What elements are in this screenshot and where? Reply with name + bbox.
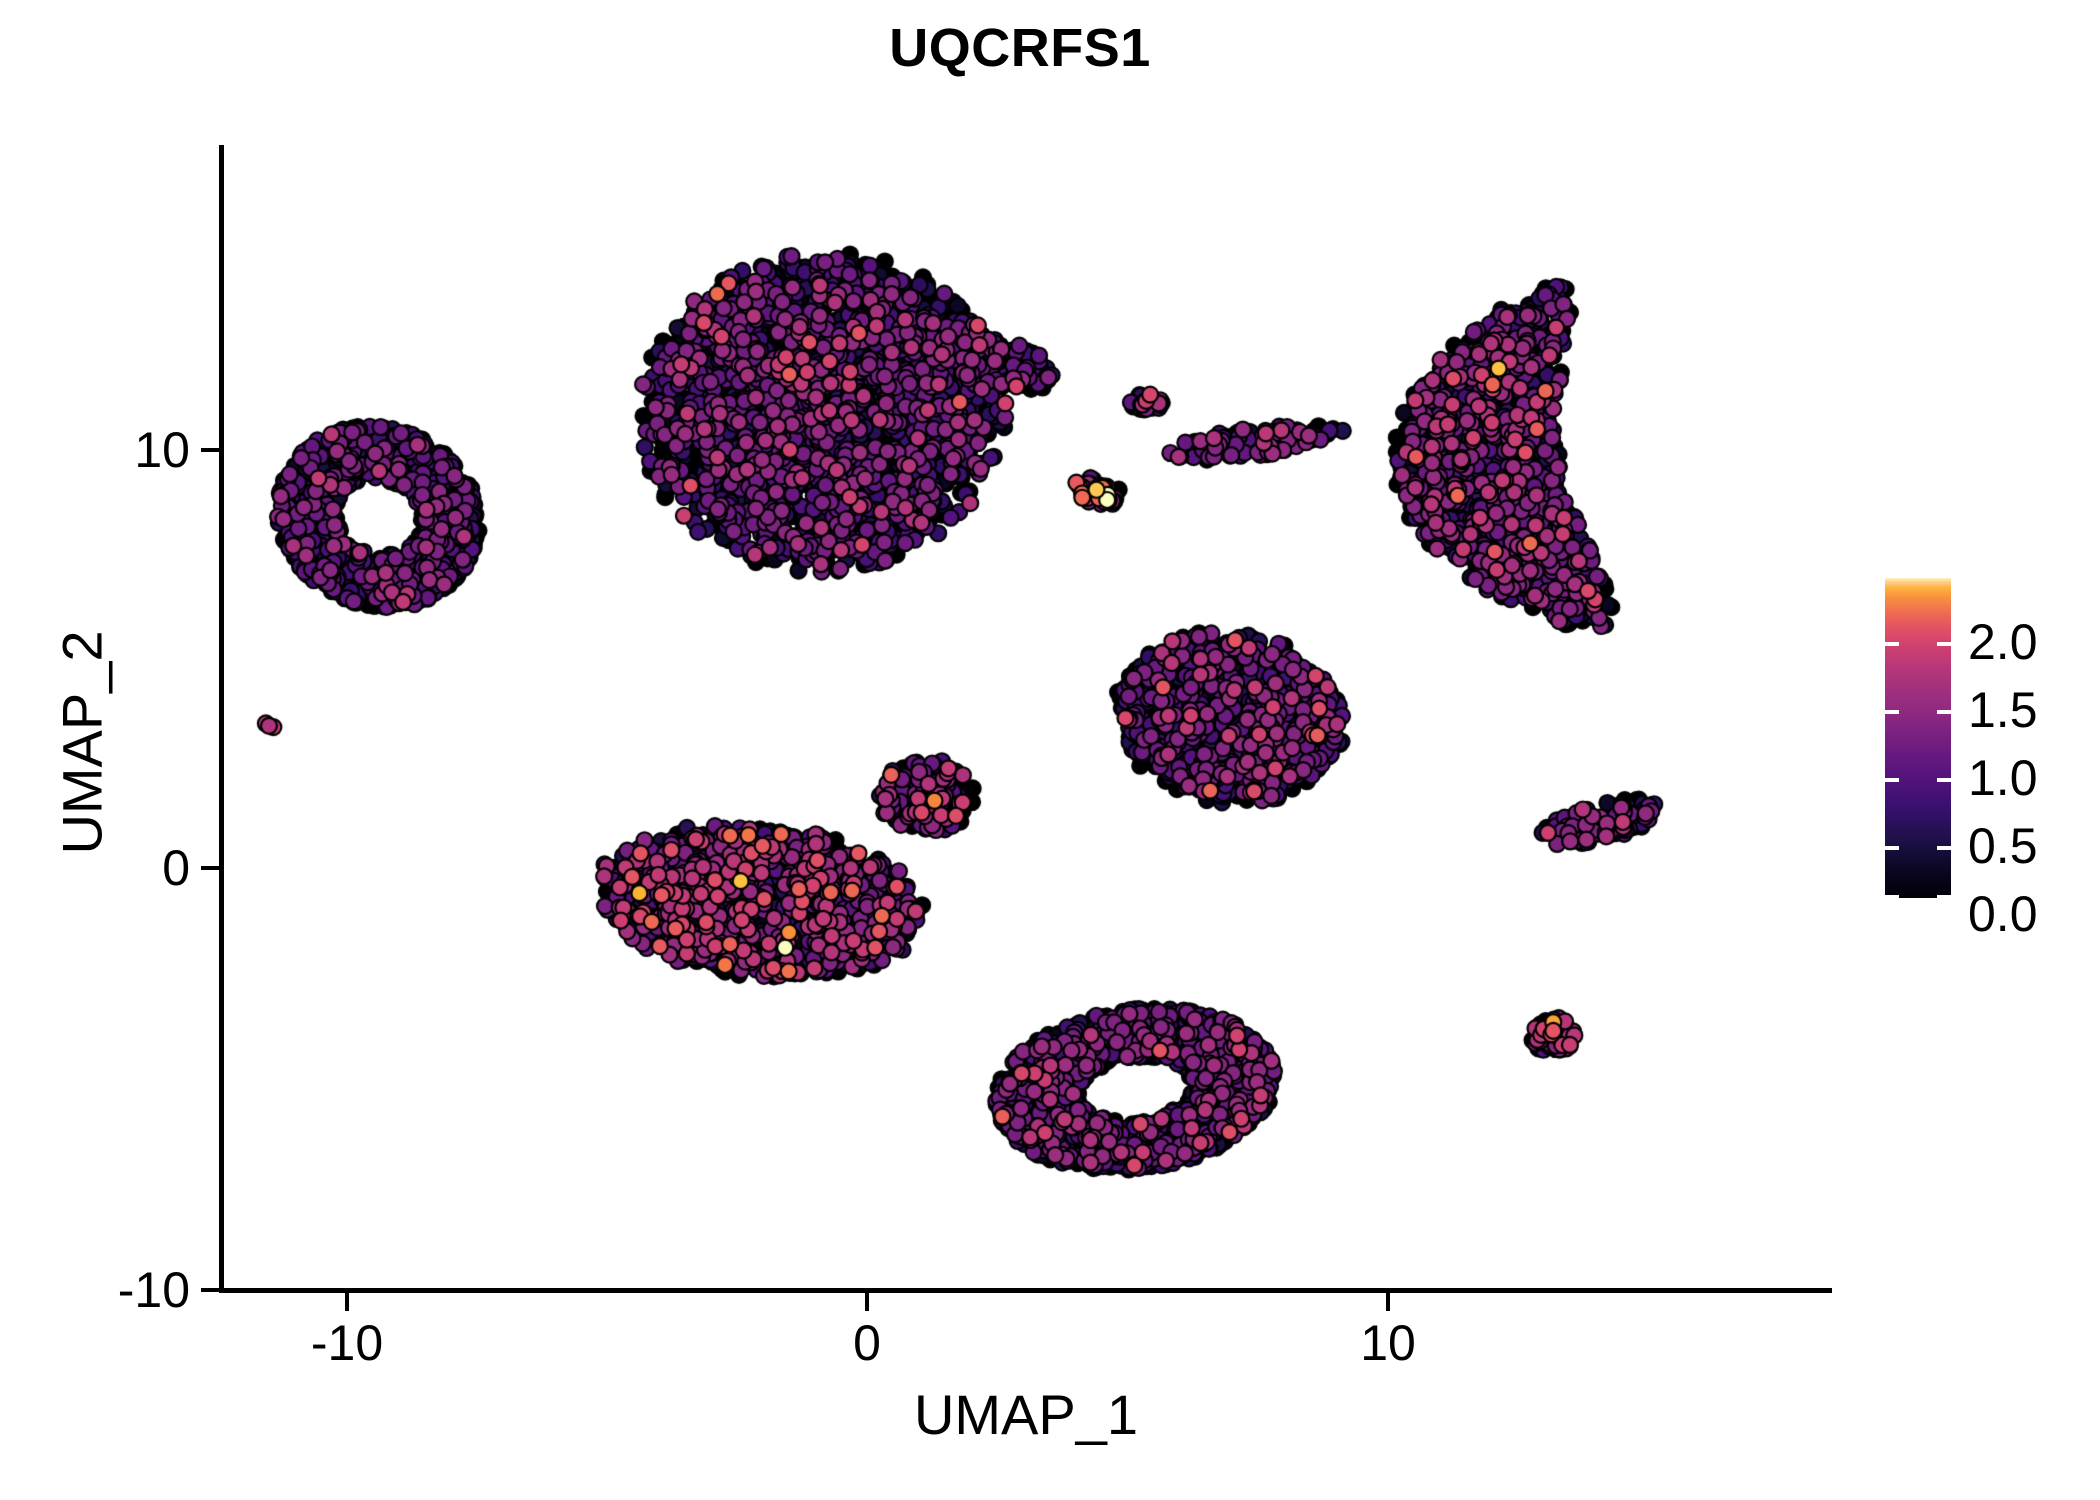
- page-title: UQCRFS1: [0, 20, 2040, 77]
- colorbar-tick-1-0-left: [1885, 778, 1899, 782]
- colorbar-gradient: [1885, 578, 1951, 898]
- colorbar-label-0-5: 0.5: [1968, 821, 2038, 871]
- y-tick-mark-10: [201, 448, 219, 452]
- x-tick-label-0: 0: [747, 1318, 987, 1368]
- colorbar-tick-0-0-left: [1885, 895, 1899, 899]
- color-legend: 2.0 1.5 1.0 0.5 0.0: [1880, 560, 2080, 940]
- colorbar-tick-0-0-right: [1937, 895, 1951, 899]
- y-tick-mark-0: [201, 866, 219, 870]
- colorbar-tick-2-0-right: [1937, 642, 1951, 646]
- y-tick-label-neg10: -10: [20, 1265, 190, 1315]
- x-tick-mark-10: [1386, 1293, 1390, 1311]
- scatter-points-layer: [222, 145, 1830, 1290]
- x-tick-mark-neg10: [345, 1293, 349, 1311]
- x-tick-label-10: 10: [1268, 1318, 1508, 1368]
- colorbar-label-1-5: 1.5: [1968, 685, 2038, 735]
- colorbar-label-0-0: 0.0: [1968, 889, 2038, 939]
- x-axis-label: UMAP_1: [222, 1382, 1830, 1447]
- colorbar-tick-0-5-left: [1885, 846, 1899, 850]
- colorbar-tick-2-0-left: [1885, 642, 1899, 646]
- y-axis-label: UMAP_2: [50, 343, 115, 1143]
- colorbar-tick-1-0-right: [1937, 778, 1951, 782]
- colorbar-label-1-0: 1.0: [1968, 753, 2038, 803]
- feature-plot-figure: UQCRFS1 10 0 -10 -10 0 10 UMAP_1 UMAP_2 …: [0, 0, 2100, 1500]
- colorbar-tick-1-5-right: [1937, 710, 1951, 714]
- y-tick-mark-neg10: [201, 1288, 219, 1292]
- x-tick-mark-0: [865, 1293, 869, 1311]
- scatter-plot-panel: [222, 145, 1830, 1290]
- colorbar-label-2-0: 2.0: [1968, 617, 2038, 667]
- colorbar-tick-0-5-right: [1937, 846, 1951, 850]
- colorbar-tick-1-5-left: [1885, 710, 1899, 714]
- x-axis-line: [222, 1288, 1832, 1293]
- y-axis-line: [219, 145, 224, 1293]
- x-tick-label-neg10: -10: [227, 1318, 467, 1368]
